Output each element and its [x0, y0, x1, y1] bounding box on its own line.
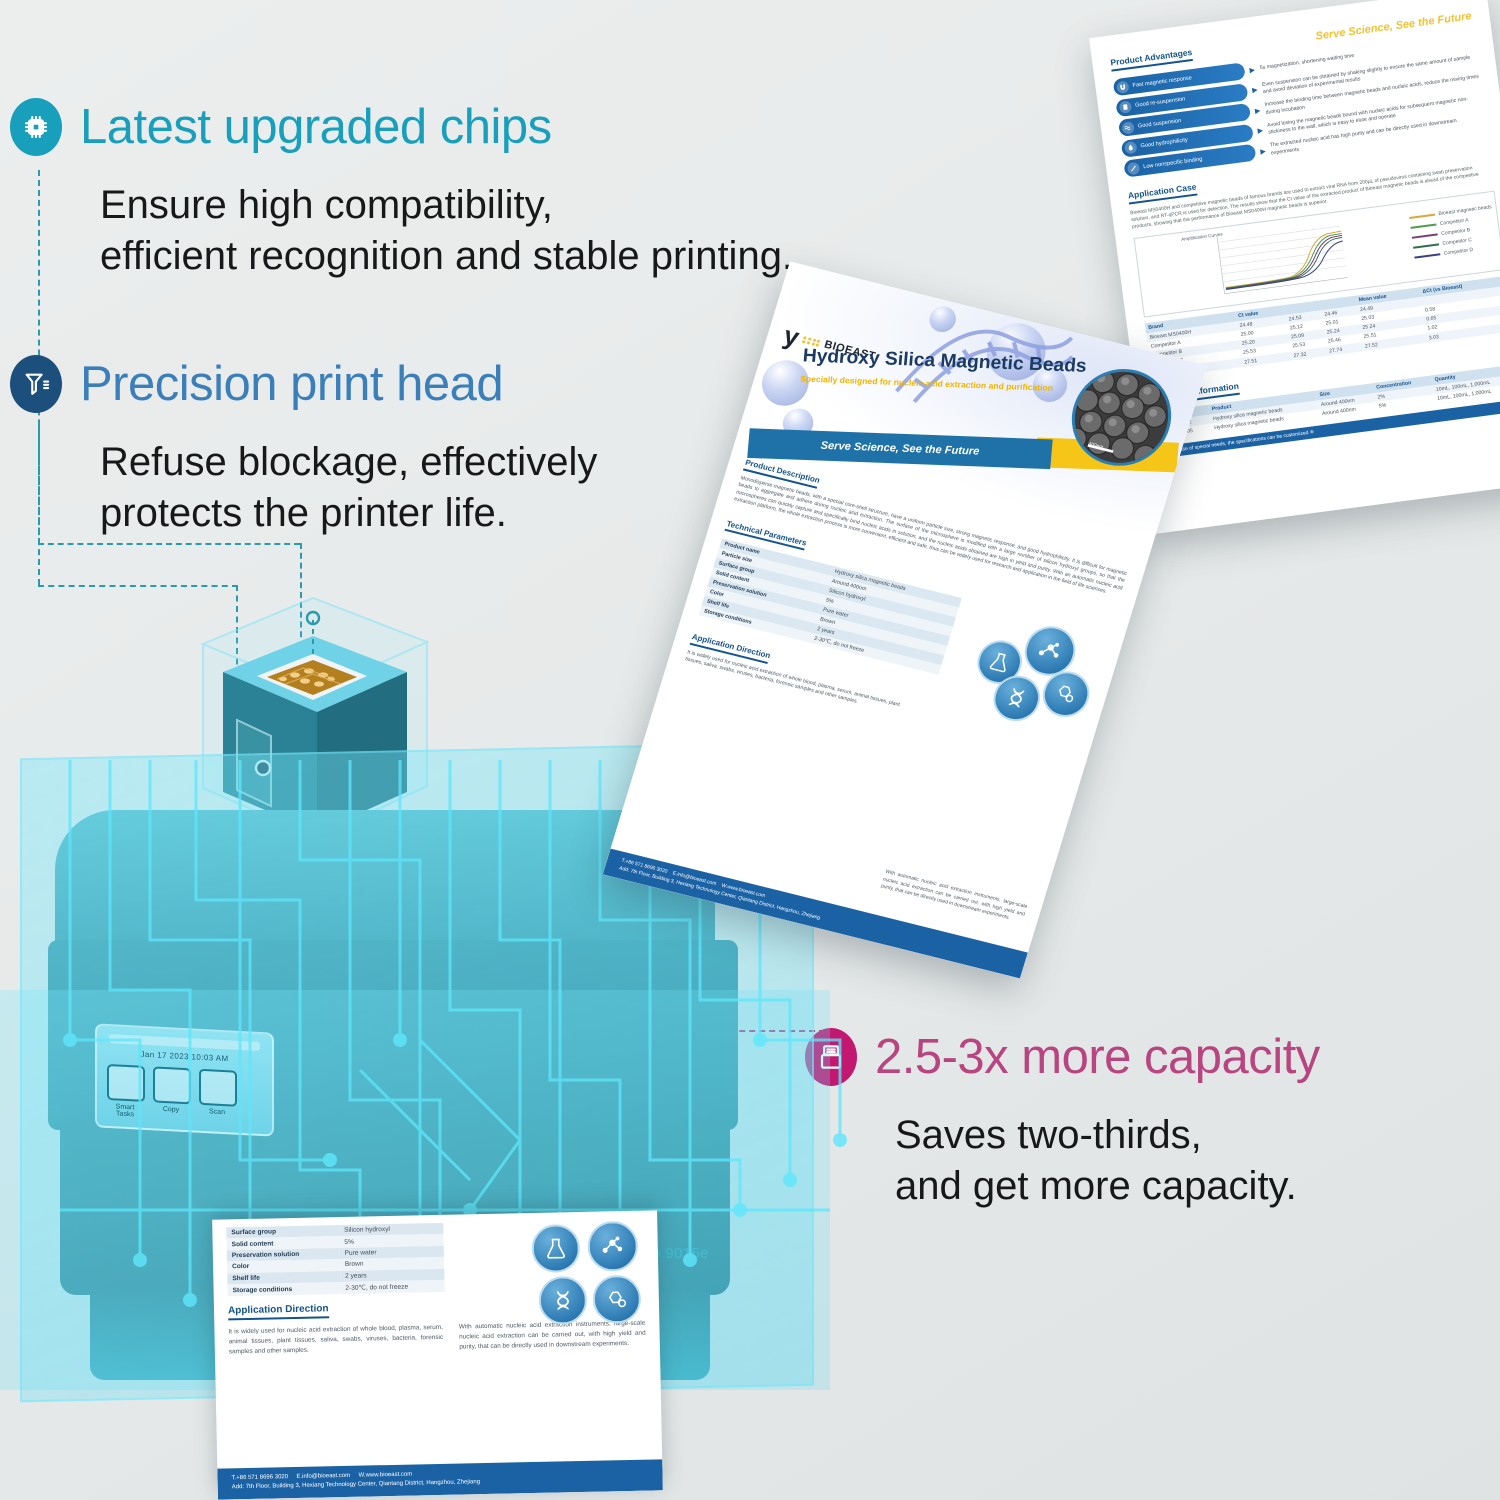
legend-swatch	[1409, 214, 1435, 219]
legend-swatch	[1411, 234, 1437, 239]
legend-swatch	[1410, 224, 1436, 229]
printed-application-title: Application Direction	[228, 1304, 329, 1321]
dna-helix-icon	[538, 1276, 587, 1325]
feature-body-line: and get more capacity.	[895, 1161, 1320, 1212]
feature-title: Precision print head	[80, 360, 503, 409]
feature-body: Refuse blockage, effectively protects th…	[100, 437, 597, 539]
brochure-slogan: Serve Science, See the Future	[820, 440, 980, 458]
funnel-icon	[10, 355, 62, 413]
param-value: 2-30℃, do not freeze	[340, 1280, 444, 1295]
legend-swatch	[1413, 244, 1439, 249]
legend-swatch	[1414, 254, 1440, 259]
feature-body-line: efficient recognition and stable printin…	[100, 231, 793, 282]
droplet-icon	[1124, 141, 1137, 154]
feature-body: Ensure high compatibility, efficient rec…	[100, 180, 793, 282]
feature-body-line: Ensure high compatibility,	[100, 180, 793, 231]
feature-more-capacity: 2.5-3x more capacity Saves two-thirds, a…	[805, 1028, 1320, 1212]
logo-mark: y	[781, 325, 801, 348]
flask-icon	[531, 1224, 580, 1273]
benzene-ring-icon	[592, 1275, 641, 1324]
advantage-label: Good re-suspension	[1135, 96, 1186, 109]
feature-precision-print-head: Precision print head Refuse blockage, ef…	[10, 355, 597, 539]
feature-body: Saves two-thirds, and get more capacity.	[895, 1110, 1320, 1212]
bar-icon	[1127, 161, 1140, 174]
feature-body-line: Refuse blockage, effectively	[100, 437, 597, 488]
advantage-label: Fast magnetic response	[1132, 75, 1192, 89]
connector-printhead-horizontal	[38, 543, 300, 545]
printed-application-text: It is widely used for nucleic acid extra…	[228, 1323, 443, 1357]
tube-icon	[1119, 100, 1132, 113]
arrow-icon: ▶	[1254, 106, 1260, 115]
footer-email: E.info@bioeast.com	[296, 1473, 350, 1480]
advantage-label: Good hydrophilicity	[1140, 137, 1188, 149]
advantage-label: Low nonspecific binding	[1143, 156, 1203, 170]
feature-body-line: Saves two-thirds,	[895, 1110, 1320, 1161]
cpu-chip-icon	[10, 98, 62, 156]
printed-output-page: Surface groupSilicon hydroxyl Solid cont…	[212, 1210, 663, 1499]
printed-science-icons	[531, 1221, 645, 1327]
legend-label: Competitor B	[1441, 227, 1471, 237]
feature-title: 2.5-3x more capacity	[875, 1033, 1320, 1082]
advantage-label: Good suspension	[1138, 117, 1182, 129]
arrow-icon: ▶	[1257, 126, 1263, 135]
brochure-side-note: With automatic nucleic acid extraction i…	[880, 869, 1028, 925]
infographic-canvas: Latest upgraded chips Ensure high compat…	[0, 0, 1500, 1500]
back-case-title: Application Case	[1127, 182, 1197, 205]
arrow-icon: ▶	[1252, 86, 1258, 95]
wave-icon	[1121, 121, 1134, 134]
feature-title: Latest upgraded chips	[80, 103, 552, 152]
brochure-front-page: y BIOEAST Hydroxy Silica Magnetic Beads …	[603, 262, 1208, 979]
legend-label: Competitor D	[1444, 247, 1474, 257]
feature-latest-upgraded-chips: Latest upgraded chips Ensure high compat…	[10, 98, 793, 282]
molecule-icon	[587, 1221, 638, 1272]
footer-web: W.www.bioeast.com	[358, 1471, 412, 1478]
printed-parameters-table: Surface groupSilicon hydroxyl Solid cont…	[226, 1223, 444, 1297]
arrow-icon: ▶	[1249, 65, 1255, 74]
arrow-icon: ▶	[1260, 147, 1266, 156]
back-advantages-title: Product Advantages	[1110, 47, 1193, 72]
footer-tel: T.+86 571 8696 3020	[231, 1474, 288, 1481]
magnet-icon	[1116, 80, 1129, 93]
legend-label: Competitor A	[1440, 218, 1469, 228]
legend-label: Competitor C	[1442, 237, 1472, 247]
feature-body-line: protects the printer life.	[100, 488, 597, 539]
param-label: Storage conditions	[227, 1282, 340, 1297]
